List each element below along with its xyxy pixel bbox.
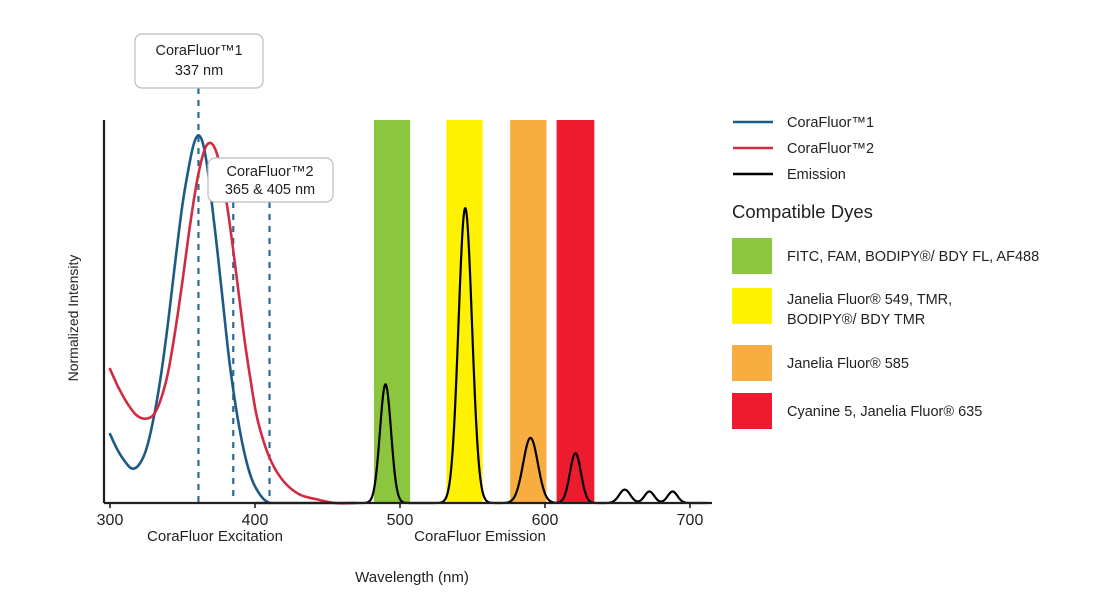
x-axis-region-excitation-label: CoraFluor Excitation [147,528,283,545]
x-tick-label-400: 400 [242,512,269,529]
callout-corafluor2-line1: CoraFluor™2 [226,164,313,180]
legend-series-label-0: CoraFluor™1 [787,115,874,131]
x-axis-region-emission-label: CoraFluor Emission [414,528,546,545]
x-tick-label-700: 700 [677,512,704,529]
callout-corafluor1[interactable]: CoraFluor™1 337 nm [135,34,263,88]
callout-corafluor1-line1: CoraFluor™1 [155,43,242,59]
legend-dye-swatch-3 [732,393,772,429]
callout-corafluor1-line2: 337 nm [175,63,223,79]
legend-dye-swatch-0 [732,238,772,274]
legend-dye-label-1-line2: BODIPY®/ BDY TMR [787,312,925,328]
x-tick-label-600: 600 [532,512,559,529]
legend-dye-label-2-line1: Janelia Fluor® 585 [787,356,909,372]
legend-series-label-2: Emission [787,167,846,183]
x-tick-label-500: 500 [387,512,414,529]
legend-dye-label-3-line1: Cyanine 5, Janelia Fluor® 635 [787,404,982,420]
legend-dye-swatch-1 [732,288,772,324]
dye-band-3 [557,120,595,503]
x-axis-title: Wavelength (nm) [355,569,469,586]
legend-dye-label-0-line1: FITC, FAM, BODIPY®/ BDY FL, AF488 [787,249,1039,265]
x-tick-label-300: 300 [97,512,124,529]
legend-dye-label-1-line1: Janelia Fluor® 549, TMR, [787,292,952,308]
spectra-figure: 300400500600700 CoraFluor Excitation Cor… [0,0,1110,612]
callout-corafluor2-line2: 365 & 405 nm [225,182,315,198]
callout-corafluor2[interactable]: CoraFluor™2 365 & 405 nm [208,158,333,202]
dye-band-2 [510,120,546,503]
legend-series-label-1: CoraFluor™2 [787,141,874,157]
y-axis-title: Normalized Intensity [65,255,81,382]
legend-dye-swatch-2 [732,345,772,381]
legend-dyes-heading: Compatible Dyes [732,201,873,222]
